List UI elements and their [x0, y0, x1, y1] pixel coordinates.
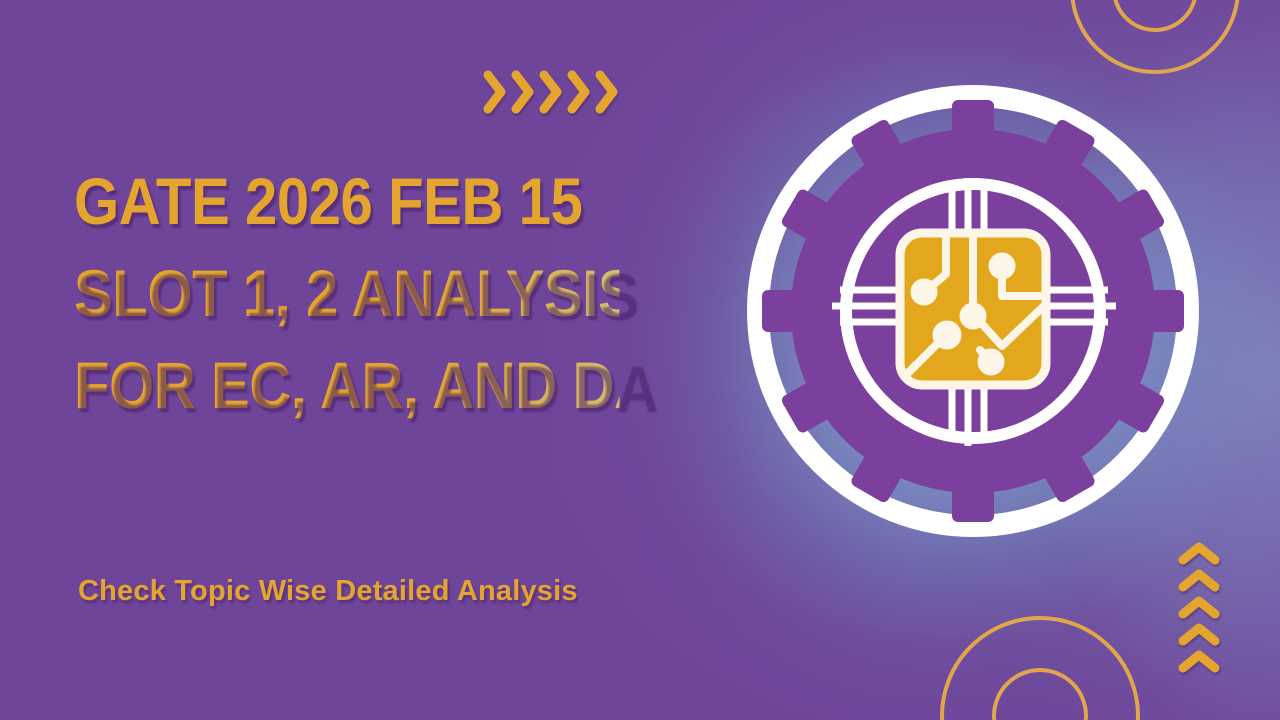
logo-node	[933, 321, 961, 349]
logo-node	[911, 279, 937, 305]
promo-banner: GATE 2026 FEB 15 SLOT 1, 2 ANALYSIS FOR …	[0, 0, 1280, 720]
headline-line-3: FOR EC, AR, AND DA	[74, 339, 620, 431]
logo-node	[989, 253, 1015, 279]
gear-microchip-icon	[740, 78, 1206, 544]
headline-line-1: GATE 2026 FEB 15	[74, 155, 620, 247]
chevron-right-icon	[566, 68, 592, 116]
chevron-right-icon	[538, 68, 564, 116]
chevron-right-icon	[510, 68, 536, 116]
headline-block: GATE 2026 FEB 15 SLOT 1, 2 ANALYSIS FOR …	[74, 155, 694, 431]
headline-line-2: SLOT 1, 2 ANALYSIS	[74, 247, 620, 339]
chevron-right-icon	[482, 68, 508, 116]
chevron-up-icon	[1176, 594, 1222, 620]
chevron-right-icon	[594, 68, 620, 116]
chevron-right-icon-group	[482, 68, 620, 116]
chevron-up-icon	[1176, 567, 1222, 593]
chevron-up-icon-group	[1176, 540, 1222, 674]
logo-node	[978, 349, 1004, 375]
logo-node	[960, 303, 986, 329]
subtitle-text: Check Topic Wise Detailed Analysis	[78, 575, 578, 608]
chevron-up-icon	[1176, 621, 1222, 647]
chevron-up-icon	[1176, 648, 1222, 674]
